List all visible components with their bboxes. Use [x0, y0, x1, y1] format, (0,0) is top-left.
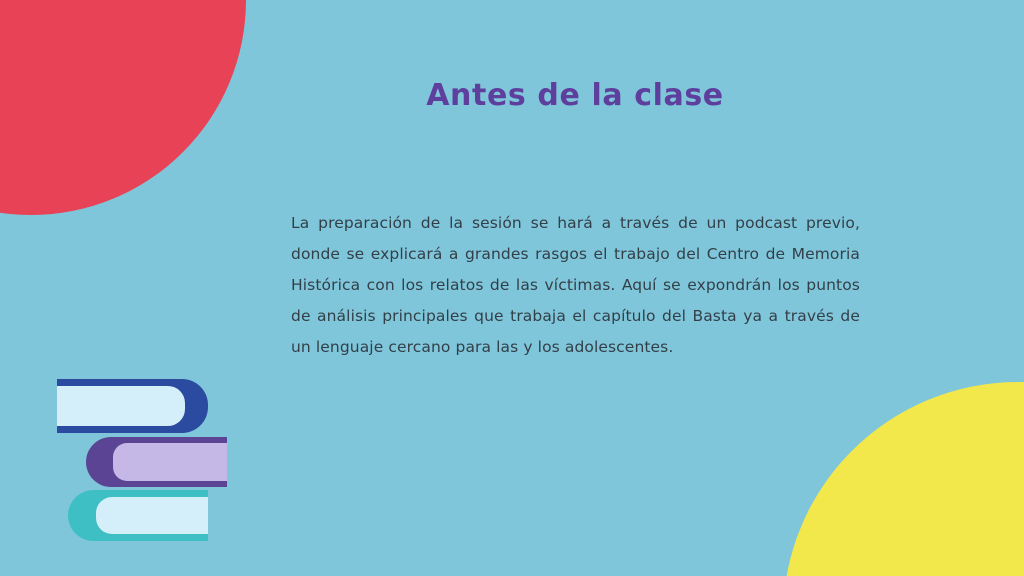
- book-bottom-pages: [96, 497, 208, 534]
- book-top: [57, 379, 208, 433]
- yellow-circle-decoration-icon: [783, 382, 1024, 576]
- slide-canvas: Antes de la clase La preparación de la s…: [0, 0, 1024, 576]
- book-middle-pages: [113, 443, 227, 481]
- book-middle: [86, 437, 227, 487]
- stack-of-books-icon: [45, 372, 240, 550]
- book-bottom: [68, 490, 208, 541]
- red-circle-decoration-icon: [0, 0, 246, 215]
- page-title: Antes de la clase: [270, 78, 880, 114]
- body-paragraph: La preparación de la sesión se hará a tr…: [291, 208, 860, 363]
- book-top-pages: [57, 386, 185, 426]
